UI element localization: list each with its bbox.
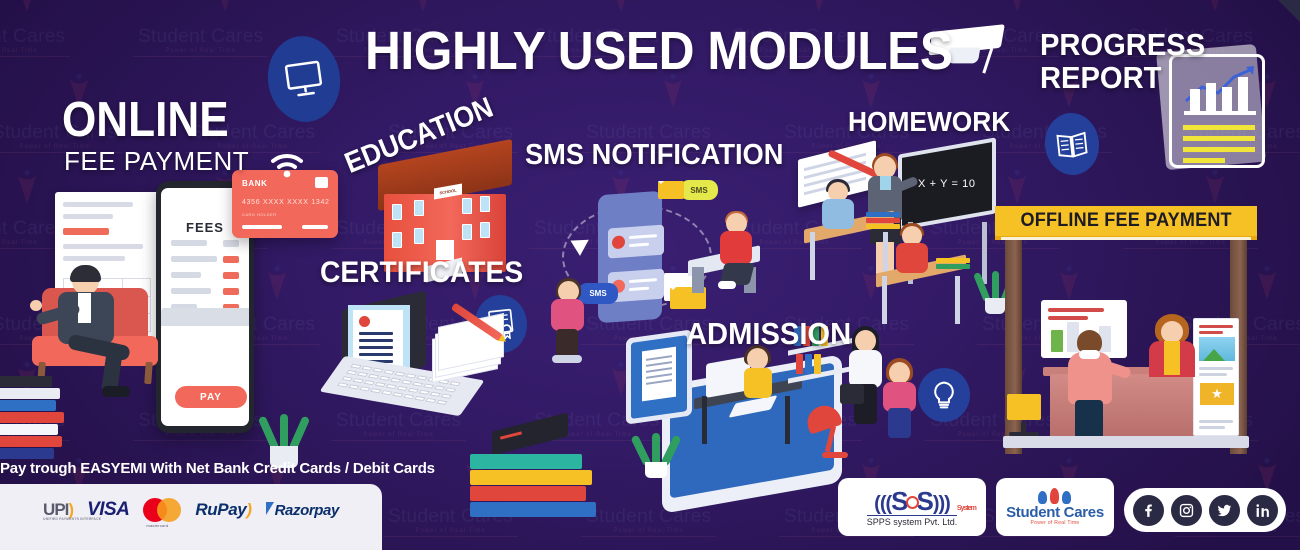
laptop-key (348, 384, 359, 389)
watermark-text: Student CaresPower of Real Time (0, 26, 65, 57)
label-sms-notification: SMS NOTIFICATION (525, 141, 783, 170)
laptop-key (364, 380, 375, 385)
promo-banner: Student CaresPower of Real TimeStudent C… (0, 0, 1300, 550)
upi-logo: UPI)UNIFIED PAYMENTS INTERFACE (43, 500, 73, 520)
laptop-key (403, 394, 414, 399)
label-online: ONLINE (62, 96, 229, 145)
laptop-key (381, 390, 392, 395)
laptop-key (342, 376, 353, 381)
pay-button[interactable]: PAY (175, 386, 247, 408)
monitor-icon (262, 31, 345, 126)
graduation-cap-on-books (470, 420, 602, 526)
tablet-device (626, 329, 692, 424)
laptop-key (408, 388, 419, 393)
laptop-key (401, 380, 412, 385)
mastercard-logo: mastercard (143, 498, 181, 522)
label-fee-payment: FEE PAYMENT (64, 148, 249, 174)
corner-accent (1278, 0, 1300, 22)
watermark-mark (1254, 266, 1280, 300)
bag (840, 384, 864, 404)
laptop-key (386, 384, 397, 389)
watermark-mark (1202, 170, 1228, 204)
laptop-key (353, 378, 364, 383)
office-chair (1007, 394, 1041, 434)
laptop-key (434, 385, 445, 390)
laptop-key (383, 369, 394, 374)
laptop-key (445, 387, 456, 392)
laptop-key (350, 364, 361, 369)
watermark-mark (1202, 0, 1228, 12)
laptop-key (441, 394, 452, 399)
laptop-key (414, 396, 425, 401)
label-certificates: CERTIFICATES (320, 258, 523, 288)
laptop-key (390, 378, 401, 383)
label-progress-report: PROGRESS REPORT (1040, 28, 1205, 95)
watermark-text: Student CaresPower of Real Time (138, 26, 263, 57)
laptop-key (337, 382, 348, 387)
instagram-icon[interactable] (1171, 495, 1202, 526)
blackboard-equation: X + Y = 10 (918, 178, 976, 190)
laptop-key (361, 366, 372, 371)
spps-mark: (((SS))) System (874, 488, 950, 514)
receipt-curl (161, 308, 249, 326)
card-bank-label: BANK (242, 179, 268, 188)
payment-description: Pay trough EASYEMI With Net Bank Credit … (0, 460, 382, 477)
card-holder-label: CARD HOLDER (242, 212, 277, 217)
potted-plant-admission (636, 430, 676, 478)
laptop-key (397, 386, 408, 391)
spps-logo: (((SS))) System SPPS system Pvt. Ltd. (838, 478, 986, 536)
laptop-key (346, 370, 357, 375)
watermark-mark (14, 0, 40, 12)
open-book-icon (1042, 110, 1102, 177)
potted-plant-left (262, 408, 306, 468)
laptop-key (357, 372, 368, 377)
card-number: 4356 XXXX XXXX 1342 (242, 199, 330, 206)
laptop-key (379, 376, 390, 381)
laptop-key (419, 390, 430, 395)
laptop-key (416, 375, 427, 380)
watermark-mark (1004, 0, 1030, 12)
rupay-logo: RuPay) (195, 500, 251, 520)
watermark-mark (1254, 458, 1280, 492)
laptop-key (423, 383, 434, 388)
seated-boy (716, 213, 756, 295)
offline-fee-payment-scene: OFFLINE FEE PAYMENT ★ (995, 200, 1257, 450)
student-cares-name: Student Cares (1006, 505, 1104, 520)
bank-card: BANK 4356 XXXX XXXX 1342 CARD HOLDER (232, 170, 338, 238)
envelope-small (658, 181, 684, 199)
twitter-icon[interactable] (1209, 495, 1240, 526)
card-chip (315, 177, 328, 188)
watermark-mark (806, 0, 832, 12)
laptop-key (430, 392, 441, 397)
student-1 (820, 182, 858, 244)
student-cares-tagline: Power of Real Time (1030, 520, 1079, 526)
visitor (1063, 330, 1117, 440)
linkedin-icon[interactable] (1247, 495, 1278, 526)
laptop-key (375, 382, 386, 387)
laptop-key (359, 386, 370, 391)
student-2 (894, 226, 932, 288)
offline-fee-payment-sign: OFFLINE FEE PAYMENT (995, 206, 1257, 240)
online-fee-payment-illustration: FEES PAY BANK 4356 XXXX XXXX 1342 CARD H… (0, 178, 330, 488)
laptop-key (449, 381, 460, 386)
watermark-mark (608, 0, 634, 12)
sms-bubble-top: SMS (680, 180, 718, 200)
laptop-key (372, 368, 383, 373)
standing-girl (546, 281, 590, 363)
facebook-icon[interactable] (1133, 495, 1164, 526)
laptop-key (412, 382, 423, 387)
student-cares-logo: Student Cares Power of Real Time (996, 478, 1114, 536)
spps-name: SPPS system Pvt. Ltd. (867, 515, 958, 527)
book-stack-left (0, 376, 68, 460)
laptop-key (370, 388, 381, 393)
label-admission: ADMISSION (686, 318, 851, 349)
laptop-key (425, 398, 436, 403)
social-links (1124, 488, 1286, 532)
walking-students-group (846, 330, 956, 490)
laptop-key (392, 392, 403, 397)
page-title: HIGHLY USED MODULES (365, 24, 953, 78)
watermark-mark (410, 0, 436, 12)
laptop-key (368, 374, 379, 379)
student-cares-mark (1038, 488, 1072, 504)
label-progress-line1: PROGRESS (1040, 28, 1205, 61)
laptop-key (436, 400, 447, 405)
payment-methods-bar: Pay trough EASYEMI With Net Bank Credit … (0, 484, 382, 550)
admin-staff (738, 348, 780, 412)
laptop-key (405, 373, 416, 378)
wifi-icon (270, 152, 304, 178)
rollup-banner: ★ (1193, 318, 1239, 436)
student-girl (880, 362, 920, 436)
watermark-mark (212, 0, 238, 12)
books-on-desk-2 (936, 258, 970, 276)
laptop-key (394, 371, 405, 376)
label-homework: HOMEWORK (848, 108, 1010, 136)
razorpay-logo: Razorpay (266, 502, 339, 519)
receptionist (1147, 314, 1199, 376)
label-progress-line2: REPORT (1040, 61, 1205, 94)
